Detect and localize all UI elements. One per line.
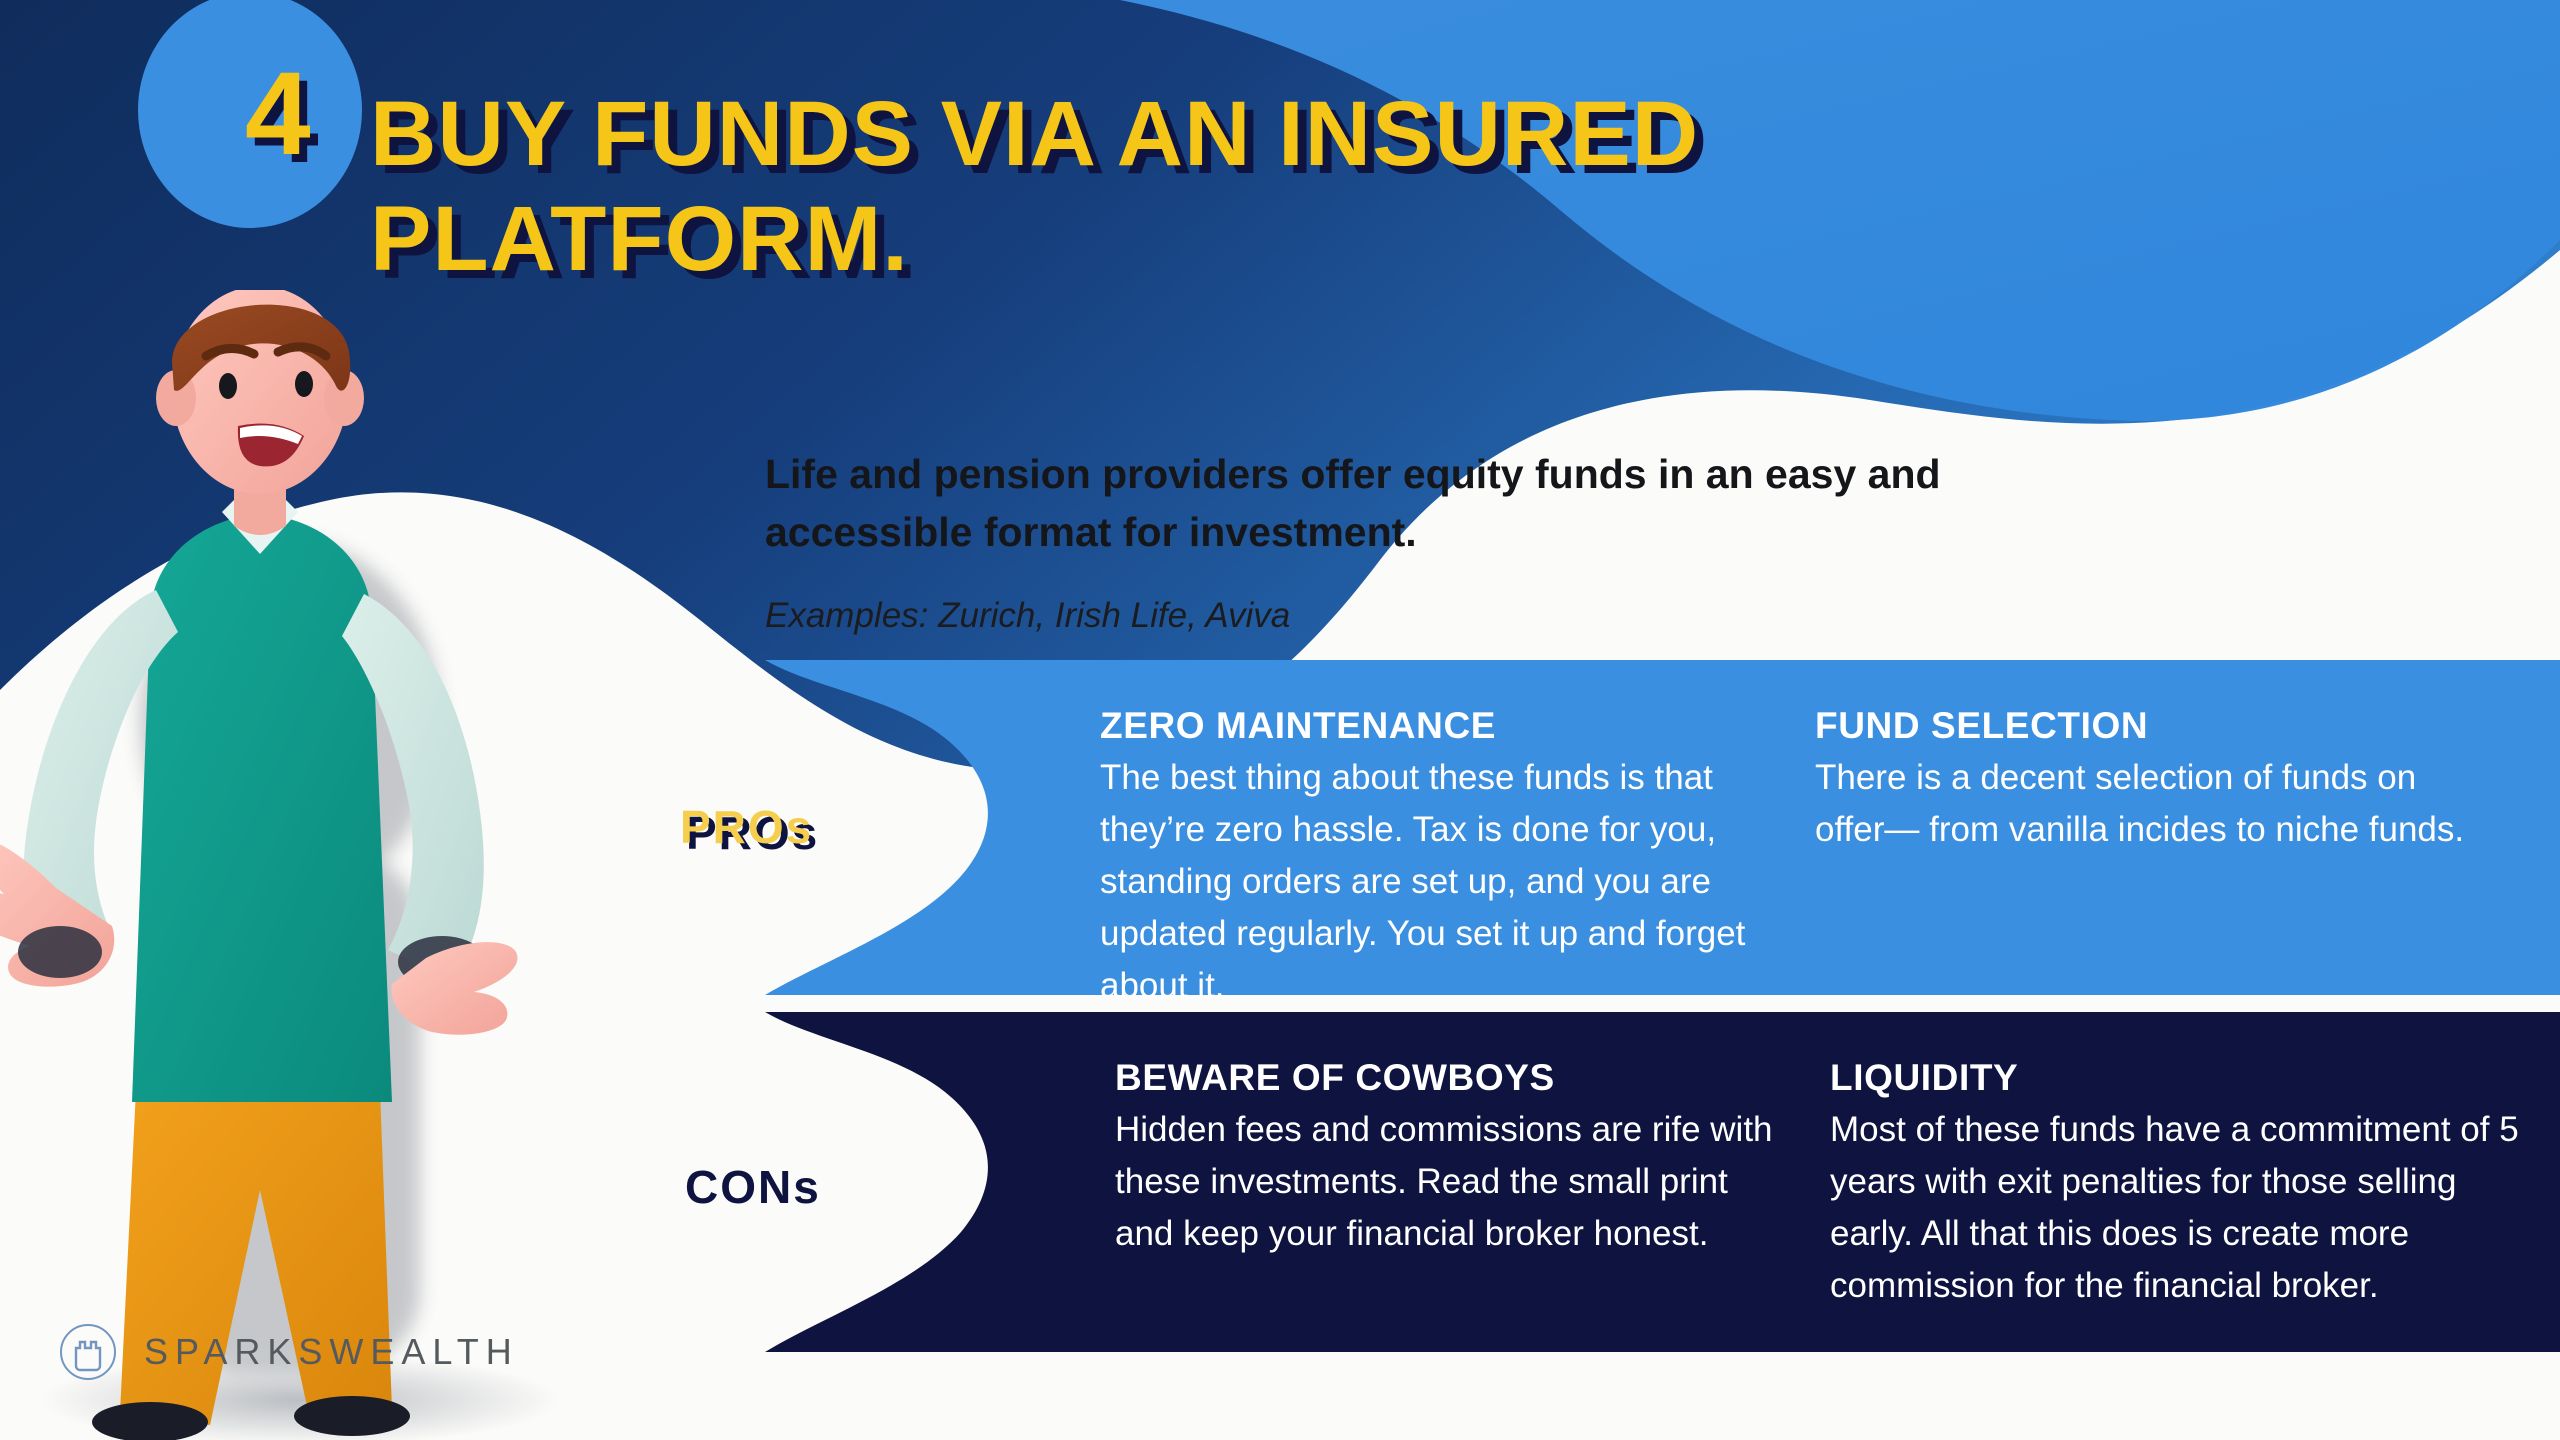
pros-panel: PROs ZERO MAINTENANCE The best thing abo… xyxy=(765,660,2560,995)
infographic-canvas: 4 BUY FUNDS VIA AN INSURED PLATFORM. xyxy=(0,0,2560,1440)
cons-item-2: LIQUIDITY Most of these funds have a com… xyxy=(1830,1056,2535,1312)
page-title: BUY FUNDS VIA AN INSURED PLATFORM. xyxy=(370,82,2130,292)
intro-block: Life and pension providers offer equity … xyxy=(765,445,2105,639)
castle-tower-icon xyxy=(58,1322,118,1382)
character-illustration xyxy=(0,290,620,1440)
pros-item-2-body: There is a decent selection of funds on … xyxy=(1815,752,2495,856)
pros-item-1-body: The best thing about these funds is that… xyxy=(1100,752,1790,1011)
cons-item-1: BEWARE OF COWBOYS Hidden fees and commis… xyxy=(1115,1056,1830,1312)
pros-label: PROs xyxy=(680,800,813,854)
brand-logo: SPARKSWEALTH xyxy=(58,1322,519,1382)
intro-headline: Life and pension providers offer equity … xyxy=(765,445,2105,561)
intro-examples: Examples: Zurich, Irish Life, Aviva xyxy=(765,593,2105,639)
pros-item-2: FUND SELECTION There is a decent selecti… xyxy=(1815,704,2520,1011)
character-vest xyxy=(132,515,392,1102)
step-number: 4 xyxy=(245,55,309,173)
pros-item-1-heading: ZERO MAINTENANCE xyxy=(1100,704,1815,748)
pros-item-2-heading: FUND SELECTION xyxy=(1815,704,2520,748)
brand-name: SPARKSWEALTH xyxy=(144,1331,519,1373)
cons-label: CONs xyxy=(685,1160,821,1214)
cons-item-2-body: Most of these funds have a commitment of… xyxy=(1830,1104,2530,1311)
cons-item-1-body: Hidden fees and commissions are rife wit… xyxy=(1115,1104,1795,1259)
pros-item-1: ZERO MAINTENANCE The best thing about th… xyxy=(1100,704,1815,1011)
cons-panel: CONs BEWARE OF COWBOYS Hidden fees and c… xyxy=(765,1012,2560,1352)
cons-item-2-heading: LIQUIDITY xyxy=(1830,1056,2535,1100)
cons-item-1-heading: BEWARE OF COWBOYS xyxy=(1115,1056,1830,1100)
